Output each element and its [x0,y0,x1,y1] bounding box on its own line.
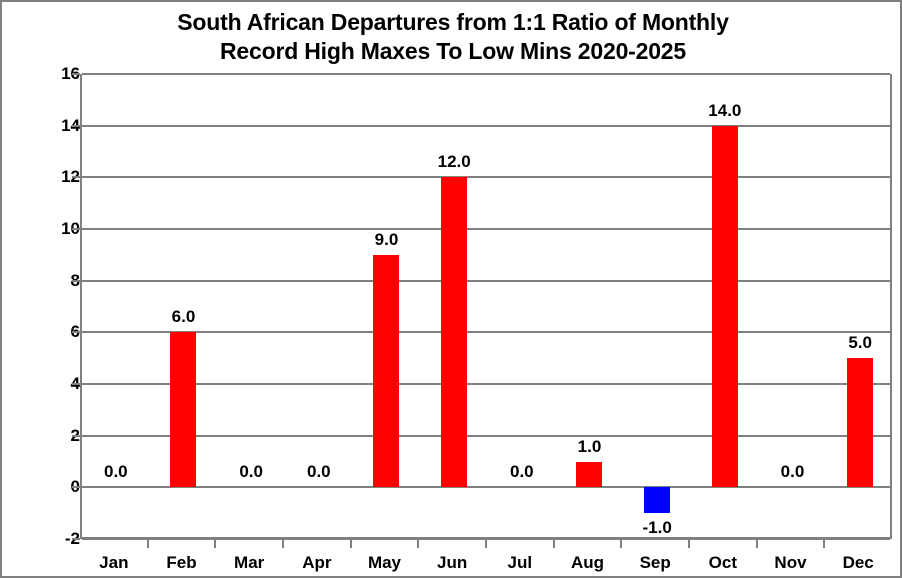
bar-group: 5.0 [826,74,894,539]
x-axis-tick-label-nov: Nov [757,553,825,572]
x-axis-tick-mark [620,539,622,548]
bar[interactable] [712,126,738,488]
bar-value-label: 0.0 [510,463,534,480]
bar-group: 12.0 [420,74,488,539]
x-axis-tick-mark [350,539,352,548]
x-axis-tick-label-oct: Oct [689,553,757,572]
x-axis-tick-label-sep: Sep [621,553,689,572]
y-axis-tick-mark [72,125,80,127]
x-axis-tick-label-aug: Aug [554,553,622,572]
bar-value-label: 12.0 [438,153,471,170]
chart-container: South African Departures from 1:1 Ratio … [0,0,902,578]
bar-group: 9.0 [353,74,421,539]
y-axis-tick-mark [72,435,80,437]
bar-group: 0.0 [488,74,556,539]
y-axis-tick-mark [72,73,80,75]
x-axis-tick-mark [214,539,216,548]
bar[interactable] [170,332,196,487]
y-axis: 1614121086420-2 [2,74,80,539]
bar[interactable] [847,358,873,487]
bar-group: -1.0 [623,74,691,539]
x-axis-tick-mark [282,539,284,548]
x-axis-tick-mark [688,539,690,548]
x-axis-tick-label-feb: Feb [148,553,216,572]
bar-group: 0.0 [82,74,150,539]
bar-value-label: 0.0 [104,463,128,480]
x-axis-tick-label-mar: Mar [215,553,283,572]
chart-title-line-1: South African Departures from 1:1 Ratio … [2,8,902,37]
chart-title-line-2: Record High Maxes To Low Mins 2020-2025 [2,37,902,66]
y-axis-tick-mark [72,383,80,385]
bar-value-label: 0.0 [781,463,805,480]
y-axis-tick-mark [72,228,80,230]
x-axis-tick-label-dec: Dec [824,553,892,572]
x-axis-tick-label-apr: Apr [283,553,351,572]
y-axis-tick-mark [72,331,80,333]
plot-area: 0.06.00.00.09.012.00.01.0-1.014.00.05.0 [80,74,892,539]
bar[interactable] [441,177,467,487]
bar-group: 6.0 [150,74,218,539]
y-axis-tick-mark [72,538,80,540]
bar-value-label: 0.0 [239,463,263,480]
x-axis-tick-label-jan: Jan [80,553,148,572]
y-axis-tick-mark [72,486,80,488]
x-axis: JanFebMarAprMayJunJulAugSepOctNovDec [80,539,892,578]
x-axis-tick-label-may: May [351,553,419,572]
y-axis-tick-mark [72,280,80,282]
bar-group: 0.0 [285,74,353,539]
bar[interactable] [644,487,670,513]
x-axis-tick-mark [485,539,487,548]
x-axis-tick-mark [823,539,825,548]
bar-group: 0.0 [217,74,285,539]
y-axis-tick-mark [72,176,80,178]
bar-value-label: 9.0 [375,231,399,248]
bar-value-label: 5.0 [848,334,872,351]
bar-value-label: 14.0 [708,102,741,119]
x-axis-tick-mark [553,539,555,548]
x-axis-tick-mark [417,539,419,548]
x-axis-tick-mark [147,539,149,548]
bar-group: 14.0 [691,74,759,539]
bar-value-label: 6.0 [172,308,196,325]
chart-title: South African Departures from 1:1 Ratio … [2,8,902,66]
x-axis-tick-mark [756,539,758,548]
bar-group: 0.0 [759,74,827,539]
bar-group: 1.0 [556,74,624,539]
bar-value-label: -1.0 [643,519,672,536]
bar[interactable] [576,462,602,488]
bar-value-label: 1.0 [578,438,602,455]
bar-value-label: 0.0 [307,463,331,480]
x-axis-tick-label-jul: Jul [486,553,554,572]
bar[interactable] [373,255,399,488]
x-axis-tick-label-jun: Jun [418,553,486,572]
